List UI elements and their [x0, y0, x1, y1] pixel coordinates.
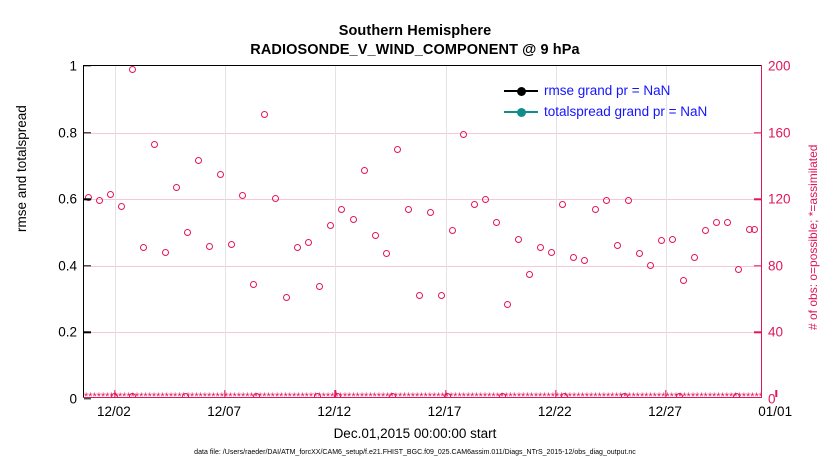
obs-possible-marker: [350, 216, 357, 223]
y-axis-right-tick-label: 160: [768, 125, 791, 140]
chart-title-line-1: Southern Hemisphere: [0, 22, 830, 41]
obs-possible-marker: [383, 250, 390, 257]
y-axis-left-tick-mark: [84, 198, 91, 199]
obs-possible-marker: [416, 292, 423, 299]
chart-legend: rmse grand pr = NaN totalspread grand pr…: [504, 80, 750, 122]
chart-title-line-2: RADIOSONDE_V_WIND_COMPONENT @ 9 hPa: [0, 41, 830, 60]
legend-label-totalspread: totalspread grand pr = NaN: [544, 104, 707, 119]
obs-possible-marker: [118, 203, 125, 210]
obs-possible-marker: [647, 262, 654, 269]
x-axis-tick-mark: [224, 390, 225, 397]
obs-possible-marker: [482, 196, 489, 203]
y-axis-right-tick-mark: [754, 132, 761, 133]
obs-possible-marker: [427, 209, 434, 216]
obs-possible-marker: [460, 131, 467, 138]
x-axis-tick-mark: [775, 390, 776, 397]
y-axis-right-tick-mark: [754, 265, 761, 266]
obs-possible-marker: [713, 219, 720, 226]
y-axis-right-label: # of obs: o=possible; *=assimilated: [806, 145, 820, 330]
obs-possible-marker: [504, 301, 511, 308]
x-axis-tick-mark: [665, 390, 666, 397]
horizontal-gridline: [84, 133, 761, 134]
obs-possible-marker: [526, 271, 533, 278]
obs-possible-marker: [217, 171, 224, 178]
obs-possible-marker: [515, 236, 522, 243]
y-axis-left-tick-mark: [84, 332, 91, 333]
y-axis-left-label: rmse and totalspread: [14, 105, 29, 232]
y-axis-left-tick-mark: [84, 65, 91, 66]
obs-possible-marker: [449, 227, 456, 234]
obs-possible-marker: [195, 157, 202, 164]
y-axis-right-tick-label: 40: [768, 325, 783, 340]
y-axis-left-tick-mark: [84, 265, 91, 266]
data-file-footer: data file: /Users/raeder/DAI/ATM_forcXX/…: [0, 449, 830, 456]
y-axis-left-tick-label: 1: [69, 59, 77, 74]
x-axis-tick-mark: [114, 390, 115, 397]
obs-possible-marker: [162, 249, 169, 256]
legend-line-totalspread: [504, 106, 538, 117]
x-axis-tick-label: 12/12: [317, 404, 351, 419]
y-axis-right-tick-label: 120: [768, 192, 791, 207]
y-axis-left-tick-label: 0.6: [58, 192, 77, 207]
x-axis-label: Dec.01,2015 00:00:00 start: [0, 426, 830, 441]
vertical-gridline: [225, 66, 226, 397]
obs-possible-marker: [614, 242, 621, 249]
y-axis-left-tick-label: 0.2: [58, 325, 77, 340]
x-axis-tick-mark: [555, 390, 556, 397]
y-axis-right-tick-mark: [754, 332, 761, 333]
x-axis-tick-mark: [335, 390, 336, 397]
obs-possible-marker: [305, 239, 312, 246]
obs-possible-marker: [250, 281, 257, 288]
obs-possible-marker: [96, 197, 103, 204]
obs-possible-marker: [735, 266, 742, 273]
obs-possible-marker: [316, 283, 323, 290]
vertical-gridline: [446, 66, 447, 397]
horizontal-gridline: [84, 199, 761, 200]
obs-possible-marker: [493, 219, 500, 226]
horizontal-gridline: [84, 332, 761, 333]
x-axis-tick-label: 12/17: [428, 404, 462, 419]
obs-possible-marker: [691, 254, 698, 261]
chart-canvas: Southern Hemisphere RADIOSONDE_V_WIND_CO…: [0, 0, 830, 470]
obs-possible-marker: [140, 244, 147, 251]
obs-possible-marker: [537, 244, 544, 251]
obs-possible-marker: [372, 232, 379, 239]
right-axis-spine: [761, 65, 763, 399]
obs-possible-marker: [361, 167, 368, 174]
legend-item-rmse[interactable]: rmse grand pr = NaN: [504, 80, 750, 101]
obs-possible-marker: [294, 244, 301, 251]
x-axis-tick-label: 01/01: [758, 404, 792, 419]
obs-possible-marker: [394, 146, 401, 153]
obs-possible-marker: [625, 197, 632, 204]
y-axis-left-tick-mark: [84, 398, 91, 399]
obs-possible-marker: [261, 111, 268, 118]
obs-possible-marker: [184, 229, 191, 236]
vertical-gridline: [335, 66, 336, 397]
y-axis-right-tick-label: 200: [768, 59, 791, 74]
vertical-gridline: [115, 66, 116, 397]
obs-possible-marker: [559, 201, 566, 208]
obs-possible-marker: [107, 191, 114, 198]
x-axis-tick-mark: [445, 390, 446, 397]
y-axis-left-tick-label: 0.8: [58, 125, 77, 140]
obs-possible-marker: [658, 237, 665, 244]
obs-possible-marker: [338, 206, 345, 213]
y-axis-left-tick-label: 0: [69, 392, 77, 407]
y-axis-right-tick-mark: [754, 198, 761, 199]
obs-possible-marker: [548, 249, 555, 256]
x-axis-tick-label: 12/02: [97, 404, 131, 419]
y-axis-left-tick-label: 0.4: [58, 258, 77, 273]
x-axis-tick-label: 12/27: [648, 404, 682, 419]
legend-label-rmse: rmse grand pr = NaN: [544, 83, 670, 98]
obs-possible-marker: [151, 141, 158, 148]
obs-possible-marker: [581, 257, 588, 264]
obs-possible-marker: [129, 66, 136, 73]
y-axis-left-tick-mark: [84, 132, 91, 133]
obs-possible-marker: [592, 206, 599, 213]
obs-possible-marker: [327, 222, 334, 229]
obs-possible-marker: [272, 195, 279, 202]
chart-title: Southern Hemisphere RADIOSONDE_V_WIND_CO…: [0, 22, 830, 60]
obs-possible-marker: [228, 241, 235, 248]
obs-possible-marker: [206, 243, 213, 250]
y-axis-right-tick-label: 80: [768, 258, 783, 273]
bottom-axis-spine: [83, 397, 763, 399]
obs-possible-marker: [751, 226, 758, 233]
obs-possible-marker: [471, 201, 478, 208]
legend-line-rmse: [504, 85, 538, 96]
obs-possible-marker: [702, 227, 709, 234]
obs-possible-marker: [636, 250, 643, 257]
horizontal-gridline: [84, 266, 761, 267]
obs-possible-marker: [438, 292, 445, 299]
obs-possible-marker: [283, 294, 290, 301]
obs-possible-marker: [173, 184, 180, 191]
x-axis-tick-label: 12/07: [207, 404, 241, 419]
obs-possible-marker: [669, 236, 676, 243]
obs-possible-marker: [405, 206, 412, 213]
x-axis-tick-label: 12/22: [538, 404, 572, 419]
obs-possible-marker: [680, 277, 687, 284]
obs-possible-marker: [603, 197, 610, 204]
legend-item-totalspread[interactable]: totalspread grand pr = NaN: [504, 101, 750, 122]
obs-possible-marker: [570, 254, 577, 261]
obs-possible-marker: [724, 219, 731, 226]
